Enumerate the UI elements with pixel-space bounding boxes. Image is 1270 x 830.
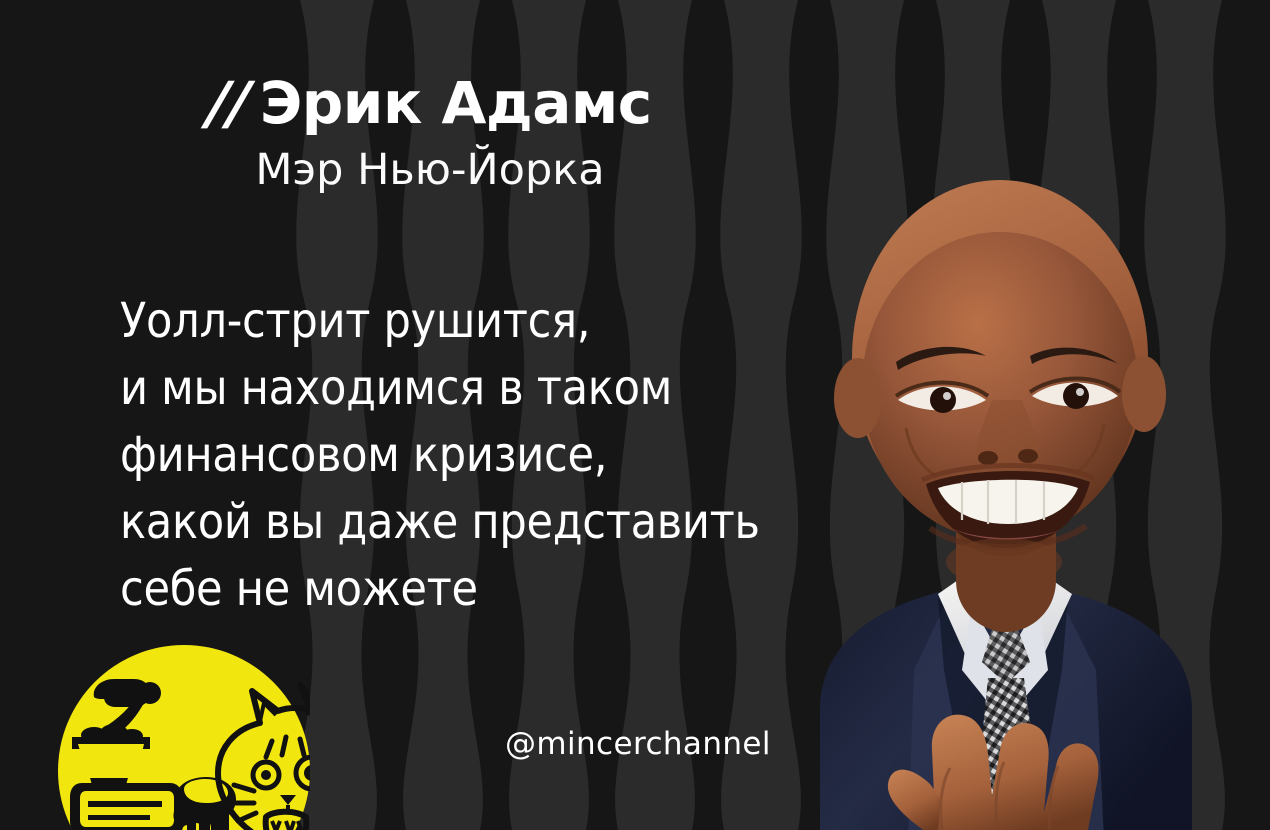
channel-handle: @mincerchannel (505, 726, 771, 762)
quote-line: себе не можете (120, 556, 900, 623)
quote-line: Уолл-стрит рушится, (120, 288, 900, 355)
quote-line: финансовом кризисе, (120, 422, 900, 489)
mincer-channel-logo (58, 645, 310, 830)
quote-line: и мы находимся в таком (120, 355, 900, 422)
quote-card: //Эрик Адамс Мэр Нью-Йорка Уолл-стрит ру… (0, 0, 1270, 830)
quote-block: Уолл-стрит рушится, и мы находимся в так… (120, 288, 900, 623)
quote-line: какой вы даже представить (120, 489, 900, 556)
